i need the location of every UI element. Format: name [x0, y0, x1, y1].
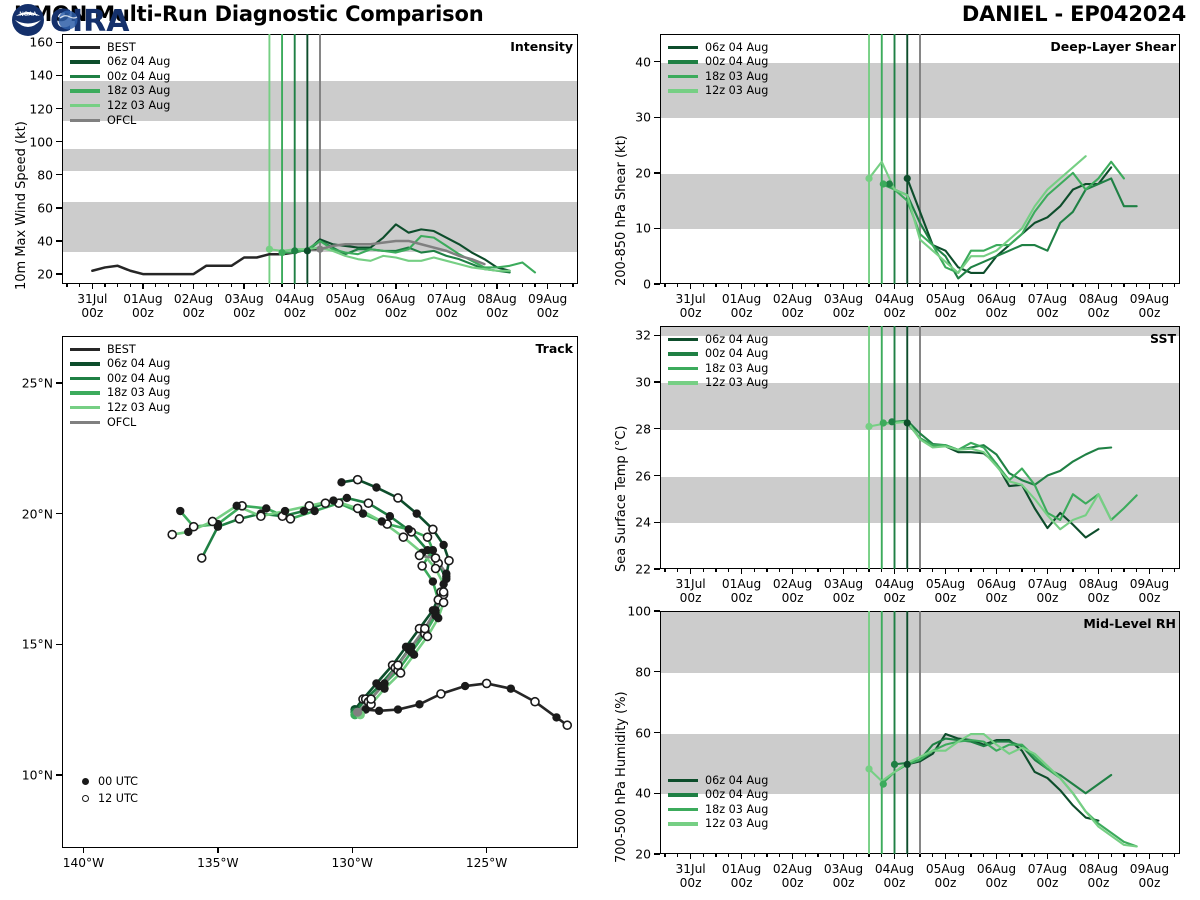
track-point-12utc — [198, 554, 206, 562]
x-tick-date: 31Jul — [675, 577, 705, 591]
legend-entry-12z-03-aug: 12z 03 Aug — [70, 98, 170, 113]
x-minor-tick — [1072, 284, 1073, 287]
legend-swatch-icon — [70, 362, 100, 365]
x-tick-date: 09Aug — [1130, 862, 1169, 876]
rh-series-layer — [600, 605, 1200, 895]
x-minor-tick — [856, 569, 857, 572]
x-minor-tick — [1162, 854, 1163, 857]
x-minor-tick — [881, 569, 882, 572]
x-tick-hour: 00z — [81, 306, 103, 320]
x-tick-mark — [345, 284, 346, 289]
x-tick-label: 31Jul00z — [77, 292, 107, 321]
x-tick-mark — [1047, 569, 1048, 574]
track-point-12utc — [209, 517, 217, 525]
x-tick-date: 09Aug — [1130, 577, 1169, 591]
init-point-marker — [266, 246, 273, 253]
x-tick-hour: 00z — [884, 591, 906, 605]
rh-panel-title: Mid-Level RH — [1083, 616, 1176, 631]
legend-label: 18z 03 Aug — [705, 804, 768, 815]
track-y-tick-mark — [56, 382, 62, 383]
y-tick-label: 28 — [635, 421, 651, 436]
y-tick-label: 26 — [635, 468, 651, 483]
legend-label: OFCL — [107, 417, 136, 428]
x-minor-tick — [868, 284, 869, 287]
track-point-00utc — [378, 517, 386, 525]
y-tick-label: 60 — [635, 725, 651, 740]
x-minor-tick — [1123, 854, 1124, 857]
open-dot-icon — [82, 795, 89, 802]
init-point-marker — [904, 761, 911, 768]
x-minor-tick — [421, 284, 422, 287]
legend-swatch-icon — [668, 793, 698, 796]
y-tick-label: 60 — [37, 200, 53, 215]
marker-legend-label: 12 UTC — [98, 792, 138, 805]
legend-entry-00z-04-aug: 00z 04 Aug — [668, 788, 768, 803]
x-tick-hour: 00z — [537, 306, 559, 320]
x-tick-mark — [792, 569, 793, 574]
x-tick-hour: 00z — [1087, 591, 1109, 605]
legend-label: 00z 04 Aug — [107, 373, 170, 384]
x-tick-mark — [1098, 569, 1099, 574]
y-tick-label: 120 — [29, 101, 53, 116]
x-minor-tick — [919, 854, 920, 857]
intensity-legend: BEST06z 04 Aug00z 04 Aug18z 03 Aug12z 03… — [70, 40, 170, 128]
track-point-12utc — [168, 531, 176, 539]
x-minor-tick — [307, 284, 308, 287]
legend-entry-18z-03-aug: 18z 03 Aug — [668, 69, 768, 84]
x-minor-tick — [534, 284, 535, 287]
y-tick-mark — [654, 475, 660, 476]
x-tick-date: 07Aug — [1028, 292, 1067, 306]
track-point-12utc — [354, 504, 362, 512]
y-tick-mark — [654, 61, 660, 62]
x-tick-label: 09Aug00z — [528, 292, 567, 321]
x-tick-mark — [1098, 284, 1099, 289]
legend-swatch-icon — [70, 406, 100, 409]
legend-label: 12z 03 Aug — [705, 85, 768, 96]
x-tick-date: 03Aug — [224, 292, 263, 306]
y-tick-label: 40 — [37, 233, 53, 248]
x-minor-tick — [332, 284, 333, 287]
x-tick-mark — [496, 284, 497, 289]
x-minor-tick — [180, 284, 181, 287]
legend-entry-12z-03-aug: 12z 03 Aug — [668, 84, 768, 99]
x-minor-tick — [130, 284, 131, 287]
x-minor-tick — [66, 284, 67, 287]
x-minor-tick — [970, 854, 971, 857]
x-tick-date: 31Jul — [675, 862, 705, 876]
x-minor-tick — [728, 854, 729, 857]
track-point-12utc — [437, 690, 445, 698]
x-minor-tick — [155, 284, 156, 287]
x-minor-tick — [830, 569, 831, 572]
x-tick-mark — [945, 569, 946, 574]
x-tick-date: 04Aug — [875, 292, 914, 306]
cira-logo-wordmark: CIRA — [50, 4, 130, 39]
legend-label: OFCL — [107, 115, 136, 126]
legend-label: BEST — [107, 42, 136, 53]
x-tick-hour: 00z — [1087, 306, 1109, 320]
x-minor-tick — [471, 284, 472, 287]
x-minor-tick — [817, 284, 818, 287]
legend-swatch-icon — [70, 89, 100, 92]
x-minor-tick — [677, 854, 678, 857]
x-tick-label: 08Aug00z — [1079, 577, 1118, 606]
track-point-00utc — [429, 577, 437, 585]
y-tick-label: 32 — [635, 328, 651, 343]
x-tick-date: 09Aug — [1130, 292, 1169, 306]
x-minor-tick — [1060, 284, 1061, 287]
x-tick-label: 06Aug00z — [977, 862, 1016, 891]
track-point-00utc — [439, 580, 447, 588]
x-minor-tick — [1085, 284, 1086, 287]
x-tick-mark — [92, 284, 93, 289]
x-tick-hour: 00z — [1138, 876, 1160, 890]
x-minor-tick — [256, 284, 257, 287]
legend-entry-12z-03-aug: 12z 03 Aug — [70, 400, 170, 415]
x-tick-mark — [547, 284, 548, 289]
legend-label: 18z 03 Aug — [107, 387, 170, 398]
y-tick-mark — [654, 172, 660, 173]
legend-entry-00z-04-aug: 00z 04 Aug — [70, 69, 170, 84]
track-init-marker — [353, 708, 362, 717]
track-point-12utc — [286, 515, 294, 523]
x-tick-date: 05Aug — [326, 292, 365, 306]
x-tick-label: 04Aug00z — [875, 577, 914, 606]
legend-entry-06z-04-aug: 06z 04 Aug — [70, 55, 170, 70]
x-minor-tick — [1009, 284, 1010, 287]
track-point-00utc — [380, 679, 388, 687]
track-point-12utc — [354, 476, 362, 484]
x-tick-hour: 00z — [731, 876, 753, 890]
x-minor-tick — [168, 284, 169, 287]
y-tick-mark — [654, 228, 660, 229]
y-tick-mark — [654, 853, 660, 854]
track-point-00utc — [442, 570, 450, 578]
x-tick-date: 02Aug — [773, 577, 812, 591]
series-line — [869, 156, 1086, 273]
x-tick-label: 07Aug00z — [1028, 862, 1067, 891]
track-point-12utc — [563, 721, 571, 729]
track-point-12utc — [321, 499, 329, 507]
legend-entry-12z-03-aug: 12z 03 Aug — [668, 376, 768, 391]
x-tick-hour: 00z — [1138, 591, 1160, 605]
x-tick-label: 02Aug00z — [174, 292, 213, 321]
track-point-00utc — [386, 512, 394, 520]
x-tick-mark — [996, 569, 997, 574]
track-point-12utc — [415, 551, 423, 559]
y-tick-mark — [56, 240, 62, 241]
y-tick-label: 0 — [643, 277, 651, 292]
x-tick-label: 31Jul00z — [675, 292, 705, 321]
x-tick-mark — [690, 854, 691, 859]
x-tick-date: 07Aug — [1028, 577, 1067, 591]
x-minor-tick — [1021, 284, 1022, 287]
x-tick-date: 08Aug — [1079, 862, 1118, 876]
x-minor-tick — [357, 284, 358, 287]
x-tick-date: 09Aug — [528, 292, 567, 306]
init-point-marker — [278, 249, 285, 256]
x-tick-label: 04Aug00z — [875, 292, 914, 321]
figure-title-right: DANIEL - EP042024 — [962, 2, 1186, 26]
track-point-12utc — [367, 695, 375, 703]
track-line — [342, 480, 450, 710]
x-tick-hour: 00z — [884, 876, 906, 890]
x-tick-label: 02Aug00z — [773, 292, 812, 321]
legend-label: 12z 03 Aug — [705, 818, 768, 829]
x-tick-label: 09Aug00z — [1130, 292, 1169, 321]
y-tick-label: 22 — [635, 562, 651, 577]
x-minor-tick — [1174, 284, 1175, 287]
x-tick-label: 08Aug00z — [1079, 862, 1118, 891]
x-minor-tick — [1072, 569, 1073, 572]
x-tick-date: 08Aug — [1079, 292, 1118, 306]
x-minor-tick — [779, 284, 780, 287]
x-tick-label: 02Aug00z — [773, 577, 812, 606]
track-y-tick-mark — [56, 513, 62, 514]
panel-rh: 700-500 hPa Humidity (%) 2040608010031Ju… — [600, 605, 1200, 895]
x-minor-tick — [932, 284, 933, 287]
x-tick-label: 04Aug00z — [875, 862, 914, 891]
x-tick-label: 03Aug00z — [224, 292, 263, 321]
track-point-12utc — [445, 557, 453, 565]
x-tick-mark — [996, 854, 997, 859]
x-tick-label: 07Aug00z — [1028, 292, 1067, 321]
y-tick-label: 40 — [635, 786, 651, 801]
x-minor-tick — [1021, 569, 1022, 572]
track-x-tick-mark — [217, 848, 218, 853]
y-tick-mark — [56, 174, 62, 175]
series-line — [869, 422, 1111, 529]
x-tick-date: 07Aug — [427, 292, 466, 306]
x-minor-tick — [907, 569, 908, 572]
legend-entry-06z-04-aug: 06z 04 Aug — [668, 332, 768, 347]
x-minor-tick — [1060, 854, 1061, 857]
x-minor-tick — [754, 284, 755, 287]
x-minor-tick — [970, 284, 971, 287]
track-point-00utc — [507, 684, 515, 692]
y-tick-mark — [654, 335, 660, 336]
legend-label: 12z 03 Aug — [107, 402, 170, 413]
legend-label: 06z 04 Aug — [705, 775, 768, 786]
init-point-marker — [891, 761, 898, 768]
y-tick-label: 140 — [29, 68, 53, 83]
init-point-marker — [880, 180, 887, 187]
track-point-00utc — [552, 713, 560, 721]
x-tick-hour: 00z — [1036, 306, 1058, 320]
panel-intensity: 10m Max Wind Speed (kt) 2040608010012014… — [0, 28, 595, 320]
x-tick-date: 04Aug — [875, 862, 914, 876]
init-point-marker — [904, 419, 911, 426]
x-tick-mark — [843, 854, 844, 859]
legend-label: 06z 04 Aug — [705, 42, 768, 53]
y-tick-mark — [654, 283, 660, 284]
x-tick-date: 05Aug — [926, 292, 965, 306]
init-point-marker — [904, 175, 911, 182]
x-minor-tick — [433, 284, 434, 287]
x-tick-hour: 00z — [833, 876, 855, 890]
track-x-tick-label: 135°W — [197, 856, 238, 870]
x-minor-tick — [509, 284, 510, 287]
x-tick-hour: 00z — [183, 306, 205, 320]
x-minor-tick — [79, 284, 80, 287]
x-minor-tick — [1111, 284, 1112, 287]
x-tick-hour: 00z — [680, 306, 702, 320]
x-tick-label: 08Aug00z — [477, 292, 516, 321]
x-minor-tick — [1034, 854, 1035, 857]
x-tick-hour: 00z — [680, 876, 702, 890]
x-tick-hour: 00z — [132, 306, 154, 320]
x-tick-hour: 00z — [833, 306, 855, 320]
x-minor-tick — [664, 284, 665, 287]
x-tick-hour: 00z — [385, 306, 407, 320]
legend-swatch-icon — [668, 352, 698, 355]
x-tick-date: 31Jul — [675, 292, 705, 306]
x-minor-tick — [677, 284, 678, 287]
x-minor-tick — [572, 284, 573, 287]
x-tick-date: 06Aug — [977, 292, 1016, 306]
track-x-tick-label: 130°W — [332, 856, 373, 870]
x-tick-mark — [1149, 854, 1150, 859]
x-tick-label: 02Aug00z — [773, 862, 812, 891]
legend-swatch-icon — [70, 377, 100, 380]
series-line — [907, 423, 1098, 537]
y-tick-mark — [56, 108, 62, 109]
track-point-12utc — [440, 598, 448, 606]
y-tick-label: 30 — [635, 110, 651, 125]
x-tick-mark — [243, 284, 244, 289]
x-tick-mark — [741, 854, 742, 859]
x-minor-tick — [1072, 854, 1073, 857]
x-tick-mark — [690, 284, 691, 289]
x-tick-label: 09Aug00z — [1130, 577, 1169, 606]
x-tick-date: 01Aug — [722, 292, 761, 306]
x-minor-tick — [664, 854, 665, 857]
x-minor-tick — [805, 284, 806, 287]
x-minor-tick — [1009, 569, 1010, 572]
x-tick-hour: 00z — [680, 591, 702, 605]
shear-panel-title: Deep-Layer Shear — [1050, 39, 1176, 54]
x-tick-hour: 00z — [486, 306, 508, 320]
x-minor-tick — [766, 284, 767, 287]
track-point-12utc — [429, 525, 437, 533]
x-tick-mark — [996, 284, 997, 289]
x-tick-date: 03Aug — [824, 577, 863, 591]
legend-swatch-icon — [668, 46, 698, 49]
x-tick-date: 06Aug — [977, 862, 1016, 876]
x-minor-tick — [1085, 854, 1086, 857]
x-tick-label: 01Aug00z — [123, 292, 162, 321]
track-point-00utc — [343, 494, 351, 502]
x-minor-tick — [218, 284, 219, 287]
legend-entry-18z-03-aug: 18z 03 Aug — [70, 386, 170, 401]
marker-legend-entry: 00 UTC — [72, 773, 138, 790]
legend-swatch-icon — [668, 338, 698, 341]
x-tick-date: 07Aug — [1028, 862, 1067, 876]
x-tick-date: 04Aug — [275, 292, 314, 306]
x-tick-hour: 00z — [833, 591, 855, 605]
branding-logos: NOAA CIRA — [8, 0, 158, 40]
init-point-marker — [865, 175, 872, 182]
y-tick-label: 20 — [635, 165, 651, 180]
track-point-00utc — [372, 483, 380, 491]
y-tick-label: 40 — [635, 54, 651, 69]
y-tick-mark — [654, 428, 660, 429]
x-tick-date: 01Aug — [722, 862, 761, 876]
x-tick-date: 01Aug — [722, 577, 761, 591]
legend-swatch-icon — [70, 421, 100, 424]
legend-swatch-icon — [668, 779, 698, 782]
x-minor-tick — [766, 569, 767, 572]
track-point-00utc — [404, 525, 412, 533]
x-tick-date: 31Jul — [77, 292, 107, 306]
x-minor-tick — [766, 854, 767, 857]
x-tick-date: 02Aug — [773, 862, 812, 876]
x-tick-mark — [894, 284, 895, 289]
filled-dot-icon — [82, 778, 89, 785]
x-tick-date: 06Aug — [977, 577, 1016, 591]
track-point-12utc — [432, 564, 440, 572]
x-minor-tick — [1162, 284, 1163, 287]
y-tick-label: 80 — [37, 167, 53, 182]
x-minor-tick — [459, 284, 460, 287]
x-tick-hour: 00z — [1087, 876, 1109, 890]
x-tick-hour: 00z — [935, 306, 957, 320]
x-tick-label: 31Jul00z — [675, 862, 705, 891]
x-minor-tick — [117, 284, 118, 287]
track-point-00utc — [232, 502, 240, 510]
legend-swatch-icon — [70, 75, 100, 78]
x-minor-tick — [1034, 284, 1035, 287]
x-minor-tick — [1009, 854, 1010, 857]
marker-legend-entry: 12 UTC — [72, 790, 138, 807]
legend-swatch-icon — [70, 46, 100, 49]
x-tick-hour: 00z — [1036, 876, 1058, 890]
x-tick-hour: 00z — [986, 876, 1008, 890]
x-minor-tick — [703, 569, 704, 572]
track-point-12utc — [235, 515, 243, 523]
legend-label: 00z 04 Aug — [107, 71, 170, 82]
x-tick-label: 08Aug00z — [1079, 292, 1118, 321]
x-tick-hour: 00z — [986, 591, 1008, 605]
x-minor-tick — [1034, 569, 1035, 572]
y-tick-mark — [654, 610, 660, 611]
legend-entry-18z-03-aug: 18z 03 Aug — [70, 84, 170, 99]
legend-swatch-icon — [70, 348, 100, 351]
x-tick-date: 08Aug — [1079, 577, 1118, 591]
track-point-12utc — [418, 562, 426, 570]
x-minor-tick — [484, 284, 485, 287]
x-minor-tick — [715, 854, 716, 857]
shear-legend: 06z 04 Aug00z 04 Aug18z 03 Aug12z 03 Aug — [668, 40, 768, 98]
legend-entry-12z-03-aug: 12z 03 Aug — [668, 817, 768, 832]
legend-entry-best: BEST — [70, 40, 170, 55]
x-tick-hour: 00z — [284, 306, 306, 320]
y-tick-mark — [654, 732, 660, 733]
init-point-marker — [865, 423, 872, 430]
x-minor-tick — [958, 284, 959, 287]
x-minor-tick — [881, 854, 882, 857]
track-point-00utc — [375, 707, 383, 715]
x-tick-hour: 00z — [782, 591, 804, 605]
x-minor-tick — [983, 854, 984, 857]
legend-swatch-icon — [668, 60, 698, 63]
x-tick-label: 06Aug00z — [977, 292, 1016, 321]
y-tick-label: 20 — [37, 267, 53, 282]
init-point-marker — [880, 781, 887, 788]
x-minor-tick — [754, 854, 755, 857]
x-tick-label: 01Aug00z — [722, 292, 761, 321]
